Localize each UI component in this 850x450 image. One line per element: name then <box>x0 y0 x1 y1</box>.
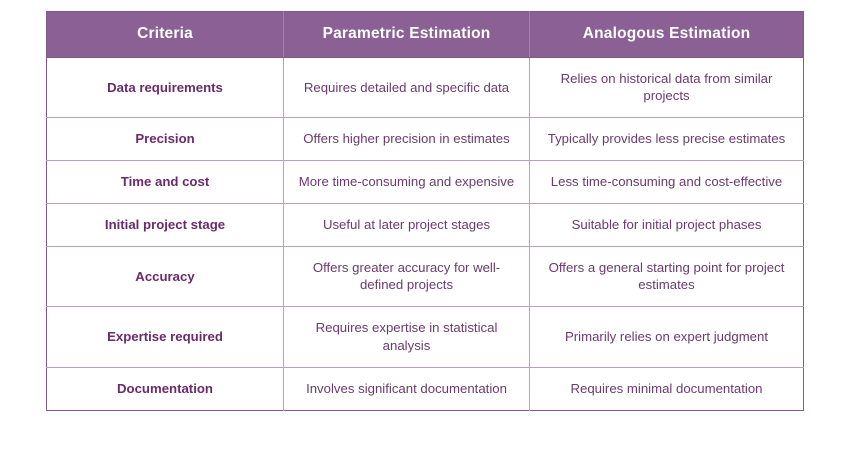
cell-criteria: Expertise required <box>47 307 284 368</box>
cell-parametric: More time-consuming and expensive <box>284 161 530 204</box>
cell-analogous: Requires minimal documentation <box>530 367 804 410</box>
table-header-row: Criteria Parametric Estimation Analogous… <box>47 12 804 58</box>
table-row: Documentation Involves significant docum… <box>47 367 804 410</box>
cell-parametric: Offers greater accuracy for well-defined… <box>284 246 530 307</box>
table-body: Data requirements Requires detailed and … <box>47 57 804 410</box>
cell-parametric: Useful at later project stages <box>284 203 530 246</box>
cell-analogous: Typically provides less precise estimate… <box>530 118 804 161</box>
table-row: Accuracy Offers greater accuracy for wel… <box>47 246 804 307</box>
table-row: Data requirements Requires detailed and … <box>47 57 804 118</box>
estimation-comparison-table: Criteria Parametric Estimation Analogous… <box>46 11 804 411</box>
table-row: Initial project stage Useful at later pr… <box>47 203 804 246</box>
table-header: Criteria Parametric Estimation Analogous… <box>47 12 804 58</box>
cell-criteria: Initial project stage <box>47 203 284 246</box>
comparison-table-container: Criteria Parametric Estimation Analogous… <box>46 11 803 440</box>
cell-criteria: Time and cost <box>47 161 284 204</box>
cell-criteria: Precision <box>47 118 284 161</box>
cell-parametric: Requires expertise in statistical analys… <box>284 307 530 368</box>
cell-analogous: Primarily relies on expert judgment <box>530 307 804 368</box>
cell-criteria: Accuracy <box>47 246 284 307</box>
cell-analogous: Less time-consuming and cost-effective <box>530 161 804 204</box>
column-header-analogous-estimation: Analogous Estimation <box>530 12 804 58</box>
cell-analogous: Suitable for initial project phases <box>530 203 804 246</box>
cell-parametric: Offers higher precision in estimates <box>284 118 530 161</box>
column-header-criteria: Criteria <box>47 12 284 58</box>
table-row: Precision Offers higher precision in est… <box>47 118 804 161</box>
cell-analogous: Relies on historical data from similar p… <box>530 57 804 118</box>
cell-parametric: Involves significant documentation <box>284 367 530 410</box>
cell-analogous: Offers a general starting point for proj… <box>530 246 804 307</box>
cell-parametric: Requires detailed and specific data <box>284 57 530 118</box>
cell-criteria: Documentation <box>47 367 284 410</box>
page-root: Criteria Parametric Estimation Analogous… <box>0 0 850 450</box>
table-row: Expertise required Requires expertise in… <box>47 307 804 368</box>
column-header-parametric-estimation: Parametric Estimation <box>284 12 530 58</box>
cell-criteria: Data requirements <box>47 57 284 118</box>
table-row: Time and cost More time-consuming and ex… <box>47 161 804 204</box>
